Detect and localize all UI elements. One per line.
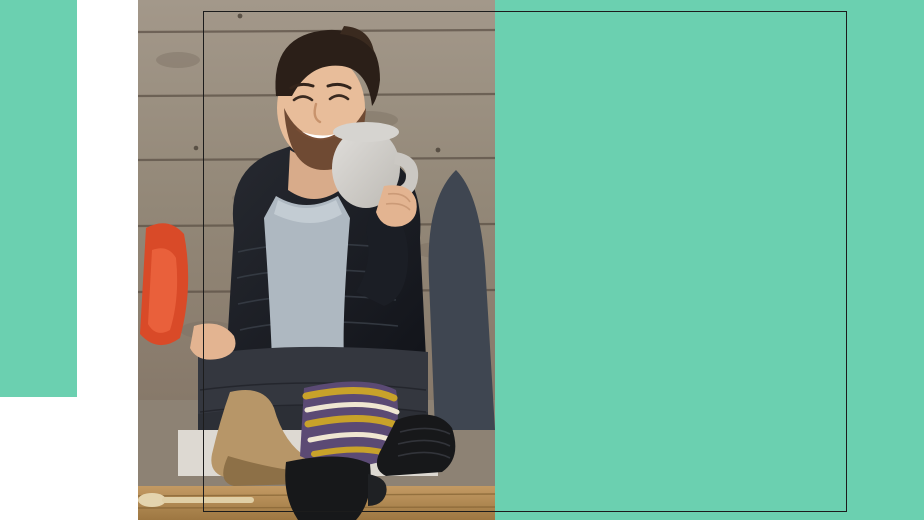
photo-illustration xyxy=(138,0,495,520)
accent-bar xyxy=(0,0,77,397)
slide: Everybody compares themselves to other p… xyxy=(0,0,924,520)
content-panel: Everybody compares themselves to other p… xyxy=(495,0,924,520)
photo-image xyxy=(138,0,495,520)
